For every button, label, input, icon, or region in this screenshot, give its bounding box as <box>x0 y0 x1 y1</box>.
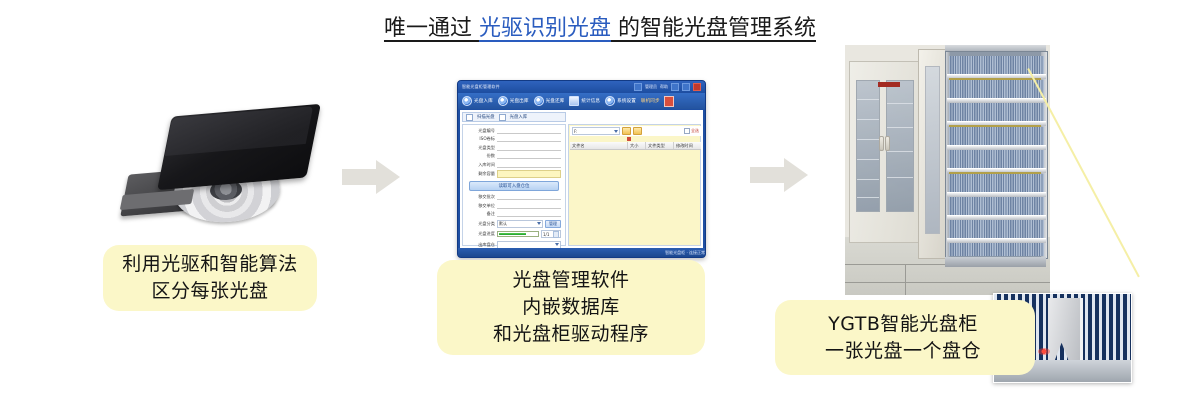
tab-scan-disc[interactable]: 扫描光盘 <box>477 114 495 120</box>
toolbar-button-sync[interactable]: 联机同步 <box>639 97 662 105</box>
form-row-free-capacity[interactable]: 剩余容量 <box>467 170 561 178</box>
disc-slot-row <box>949 103 1044 121</box>
tab-disc-in[interactable]: 光盘入库 <box>510 114 528 120</box>
chevron-down-icon <box>555 243 559 246</box>
checkbox-label: 全选 <box>691 128 699 134</box>
disc-progress-stepper[interactable]: 1/1 <box>541 230 561 238</box>
field-label: 备注 <box>467 211 495 217</box>
arrow-shaft <box>342 169 380 185</box>
app-tab-strip[interactable]: 扫描光盘 光盘入库 <box>462 112 566 122</box>
field-label: 移交单位 <box>467 203 495 209</box>
field-label: 份数 <box>467 153 495 159</box>
caption-box-software: 光盘管理软件 内嵌数据库 和光盘柜驱动程序 <box>437 260 705 355</box>
door-glass-pane <box>925 66 940 234</box>
page-title-suffix: 的智能光盘管理系统 <box>611 16 816 41</box>
file-list-panel[interactable]: F: 全选 文件名 大小 文件类型 修改时间 <box>568 124 701 246</box>
field-label: 光盘分类 <box>467 221 495 227</box>
field-label: 移交批次 <box>467 194 495 200</box>
refresh-folder-icon[interactable] <box>633 127 642 135</box>
toolbar-button-disc-out[interactable]: 光盘出库 <box>496 95 531 107</box>
caption-line: 一张光盘一个盘仓 <box>825 338 981 365</box>
caption-line: 区分每张光盘 <box>122 278 298 305</box>
form-row-in-time[interactable]: 入库时间 <box>467 162 561 168</box>
form-row-transfer-batch[interactable]: 移交批次 <box>467 194 561 200</box>
disc-progress-bar <box>497 231 539 237</box>
disc-slot-row <box>949 243 1044 256</box>
in-time-input[interactable] <box>497 162 561 168</box>
close-button[interactable] <box>693 83 701 91</box>
closed-cabinet <box>849 61 921 243</box>
free-capacity-input[interactable] <box>497 170 561 178</box>
toolbar-button-disc-in[interactable]: 光盘入库 <box>460 95 495 107</box>
read-available-slot-button[interactable]: 读取可入盘仓位 <box>469 181 559 191</box>
cabinet-glass-left <box>856 80 880 212</box>
field-label: 出库盘仓 <box>467 242 495 248</box>
stepper-value: 1/1 <box>543 232 549 237</box>
caption-line: 内嵌数据库 <box>493 294 649 321</box>
arrow-software-to-cabinet <box>750 158 810 192</box>
disc-out-icon <box>498 96 508 106</box>
app-title-user: 管理员 <box>645 84 657 90</box>
arrow-shaft <box>750 167 788 183</box>
toolbar-button-settings[interactable]: 系统设置 <box>603 95 638 107</box>
toolbar-label: 光盘出库 <box>510 98 529 104</box>
button-label: 管理 <box>549 221 557 227</box>
gear-icon <box>605 96 615 106</box>
cabinet-glass-right <box>886 80 914 212</box>
arrow-head <box>376 160 400 194</box>
sync-icon[interactable] <box>664 96 674 107</box>
stepper-arrows-icon[interactable] <box>553 231 559 238</box>
disc-type-input[interactable] <box>497 145 561 151</box>
field-label: 剩余容量 <box>467 171 495 177</box>
form-row-disc-progress: 光盘进度 1/1 <box>467 230 561 238</box>
form-row-disc-category[interactable]: 光盘分类 默认 管理 <box>467 220 561 228</box>
form-row-remark[interactable]: 备注 <box>467 211 561 217</box>
app-client-area: 扫描光盘 光盘入库 光盘编号 ISO卷标 光盘类型 份数 <box>460 110 703 248</box>
select-value: F: <box>574 129 577 134</box>
caption-line: 光盘管理软件 <box>493 267 649 294</box>
chevron-down-icon <box>614 130 618 133</box>
column-header-filename[interactable]: 文件名 <box>570 142 628 149</box>
inset-gripper-edge <box>1080 298 1083 362</box>
disc-slot-row <box>949 197 1044 215</box>
button-label: 读取可入盘仓位 <box>499 183 530 189</box>
file-list-column-headers: 文件名 大小 文件类型 修改时间 <box>570 142 701 150</box>
inset-laser-indicator-icon <box>1038 348 1050 355</box>
transfer-batch-input[interactable] <box>497 194 561 200</box>
page-title-prefix: 唯一通过 <box>384 16 479 41</box>
disc-in-small-icon <box>499 114 506 121</box>
select-value: 默认 <box>499 221 507 227</box>
form-row-iso-label[interactable]: ISO卷标 <box>467 136 561 142</box>
form-row-disc-type[interactable]: 光盘类型 <box>467 145 561 151</box>
form-row-disc-id[interactable]: 光盘编号 <box>467 128 561 134</box>
disc-slot-unit <box>945 51 1048 259</box>
disc-slot-row <box>949 80 1044 98</box>
cabinet-base <box>945 257 1046 267</box>
software-window-screenshot[interactable]: 智能光盘柜管理软件 管理员 帮助 光盘入库 光盘出库 光盘还库 <box>457 80 706 258</box>
toolbar-label: 光盘入库 <box>474 98 493 104</box>
user-badge-icon <box>634 83 642 91</box>
floor-tile-line <box>905 265 906 295</box>
chevron-down-icon <box>537 222 541 225</box>
page-title: 唯一通过 光驱识别光盘 的智能光盘管理系统 <box>0 14 1200 44</box>
optical-drive-photo <box>118 108 324 226</box>
slide-canvas: 唯一通过 光驱识别光盘 的智能光盘管理系统 智能光盘柜管理软件 管理员 帮助 <box>0 0 1200 400</box>
field-label: 光盘进度 <box>467 231 495 237</box>
disc-slot-row <box>949 174 1044 192</box>
caption-lines: 利用光驱和智能算法 区分每张光盘 <box>114 251 306 305</box>
copies-input[interactable] <box>497 153 561 159</box>
minimize-button[interactable] <box>671 83 679 91</box>
app-toolbar[interactable]: 光盘入库 光盘出库 光盘还库 统计信息 系统设置 联机同步 <box>458 93 706 109</box>
remark-input[interactable] <box>497 211 561 217</box>
drive-path-select[interactable]: F: <box>572 127 620 135</box>
maximize-button[interactable] <box>682 83 690 91</box>
caption-box-cabinet: YGTB智能光盘柜 一张光盘一个盘仓 <box>775 300 1035 375</box>
help-button[interactable]: 帮助 <box>660 84 668 90</box>
disc-category-select[interactable]: 默认 <box>497 220 543 228</box>
checkbox-box[interactable] <box>684 128 690 134</box>
column-header-modified[interactable]: 修改时间 <box>674 142 701 149</box>
form-row-copies[interactable]: 份数 <box>467 153 561 159</box>
cabinet-label <box>878 82 900 87</box>
disc-return-icon <box>534 96 544 106</box>
recording-indicator-icon <box>627 137 631 141</box>
field-label: 光盘类型 <box>467 145 495 151</box>
column-header-size[interactable]: 大小 <box>628 142 646 149</box>
toolbar-label: 光盘还库 <box>546 98 565 104</box>
toolbar-button-stats[interactable]: 统计信息 <box>567 95 602 107</box>
caption-line: 和光盘柜驱动程序 <box>493 321 649 348</box>
floor-tile-line <box>845 282 1050 283</box>
cabinet-handle-right[interactable] <box>885 136 890 151</box>
disc-slot-row <box>949 127 1044 145</box>
arrow-head <box>784 158 808 192</box>
form-row-transfer-unit[interactable]: 移交单位 <box>467 203 561 209</box>
status-text: 智能光盘柜 · 连接正常 <box>665 250 705 256</box>
disc-id-input[interactable] <box>497 128 561 134</box>
manage-category-button[interactable]: 管理 <box>545 220 561 228</box>
caption-line: 利用光驱和智能算法 <box>122 251 298 278</box>
field-label: ISO卷标 <box>467 136 495 142</box>
caption-lines: YGTB智能光盘柜 一张光盘一个盘仓 <box>817 311 989 365</box>
caption-lines: 光盘管理软件 内嵌数据库 和光盘柜驱动程序 <box>485 267 657 348</box>
page-title-highlight: 光驱识别光盘 <box>479 16 611 41</box>
iso-label-input[interactable] <box>497 136 561 142</box>
open-cabinet-door[interactable] <box>918 49 946 259</box>
field-label: 光盘编号 <box>467 128 495 134</box>
arrow-drive-to-software <box>342 160 402 194</box>
disc-slot-row <box>949 220 1044 238</box>
window-controls[interactable]: 管理员 帮助 <box>634 83 705 91</box>
folder-icon[interactable] <box>622 127 631 135</box>
field-label: 入库时间 <box>467 162 495 168</box>
disc-in-icon <box>462 96 472 106</box>
column-header-filetype[interactable]: 文件类型 <box>646 142 674 149</box>
cabinet-handle-left[interactable] <box>879 136 884 151</box>
caption-box-drive: 利用光驱和智能算法 区分每张光盘 <box>103 245 317 311</box>
transfer-unit-input[interactable] <box>497 203 561 209</box>
toolbar-label: 联机同步 <box>641 98 660 104</box>
disc-form-panel: 光盘编号 ISO卷标 光盘类型 份数 入库时间 <box>462 124 566 246</box>
disc-cabinet-photo <box>845 45 1050 295</box>
toolbar-label: 系统设置 <box>617 98 636 104</box>
caption-line: YGTB智能光盘柜 <box>825 311 981 338</box>
disc-slot-row <box>949 150 1044 168</box>
app-status-bar: 智能光盘柜 · 连接正常 <box>458 248 706 257</box>
select-all-checkbox[interactable]: 全选 <box>684 128 699 134</box>
toolbar-label: 统计信息 <box>581 98 600 104</box>
stats-icon <box>569 96 579 106</box>
scan-icon <box>466 114 473 121</box>
file-path-bar[interactable]: F: 全选 <box>570 126 701 136</box>
toolbar-button-disc-return[interactable]: 光盘还库 <box>532 95 567 107</box>
app-title-bar: 智能光盘柜管理软件 管理员 帮助 <box>458 81 705 93</box>
app-title: 智能光盘柜管理软件 <box>458 84 500 90</box>
